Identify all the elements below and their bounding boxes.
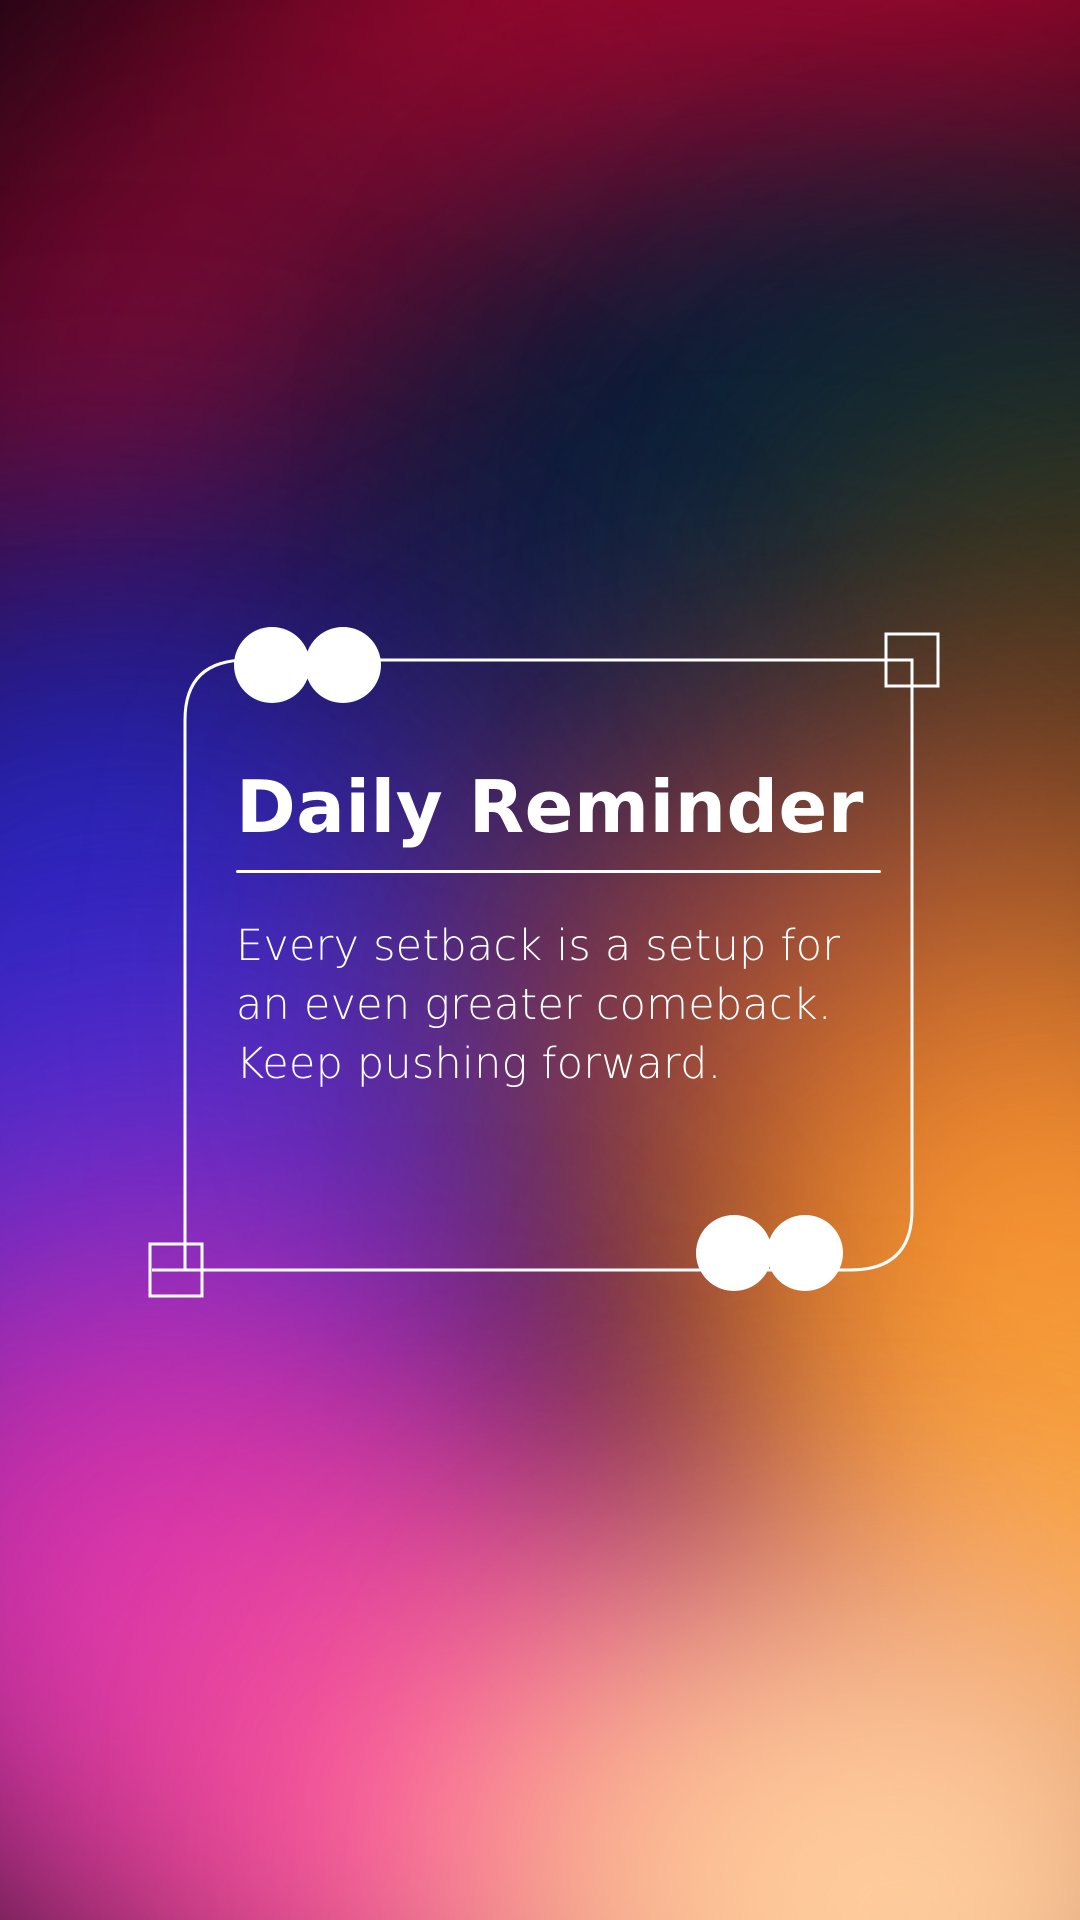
dot-top-right-icon bbox=[305, 627, 381, 703]
quote-text-block: Daily Reminder Every setback is a setup … bbox=[236, 770, 876, 1095]
quote-line-3: Keep pushing forward. bbox=[236, 1035, 876, 1094]
quote-card: Daily Reminder Every setback is a setup … bbox=[0, 0, 1080, 1920]
title-divider bbox=[236, 870, 881, 873]
dot-bottom-left-icon bbox=[696, 1215, 772, 1291]
quote-text: Every setback is a setup for an even gre… bbox=[236, 917, 876, 1095]
quote-line-1: Every setback is a setup for bbox=[236, 917, 876, 976]
page-title: Daily Reminder bbox=[236, 770, 876, 846]
dot-bottom-right-icon bbox=[767, 1215, 843, 1291]
dot-top-left-icon bbox=[234, 627, 310, 703]
quote-line-2: an even greater comeback. bbox=[236, 976, 876, 1035]
